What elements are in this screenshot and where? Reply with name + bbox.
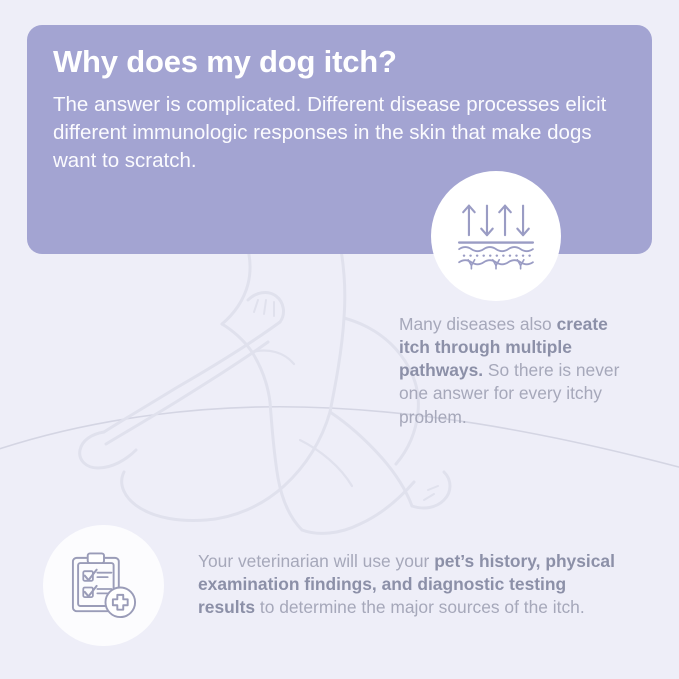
clipboard-icon-badge bbox=[43, 525, 164, 646]
page-title: Why does my dog itch? bbox=[53, 43, 626, 82]
callout-veterinary-diagnostics: Your veterinarian will use your pet’s hi… bbox=[198, 550, 623, 619]
callout-text-plain-4: to determine the major sources of the it… bbox=[255, 597, 585, 617]
callout-text-plain-3: Your veterinarian will use your bbox=[198, 551, 434, 571]
callout-text-plain-1: Many diseases also bbox=[399, 314, 557, 334]
header-body-text: The answer is complicated. Different dis… bbox=[53, 91, 626, 175]
medical-plus-badge bbox=[105, 587, 135, 617]
callout-skin-pathways: Many diseases also create itch through m… bbox=[399, 313, 627, 429]
skin-icon-badge bbox=[431, 171, 561, 301]
skin-layers-arrows-icon bbox=[455, 199, 537, 273]
dermis-dots bbox=[463, 254, 531, 256]
clipboard-checklist-medical-icon bbox=[67, 549, 141, 623]
infographic-root: Why does my dog itch? The answer is comp… bbox=[0, 0, 679, 679]
